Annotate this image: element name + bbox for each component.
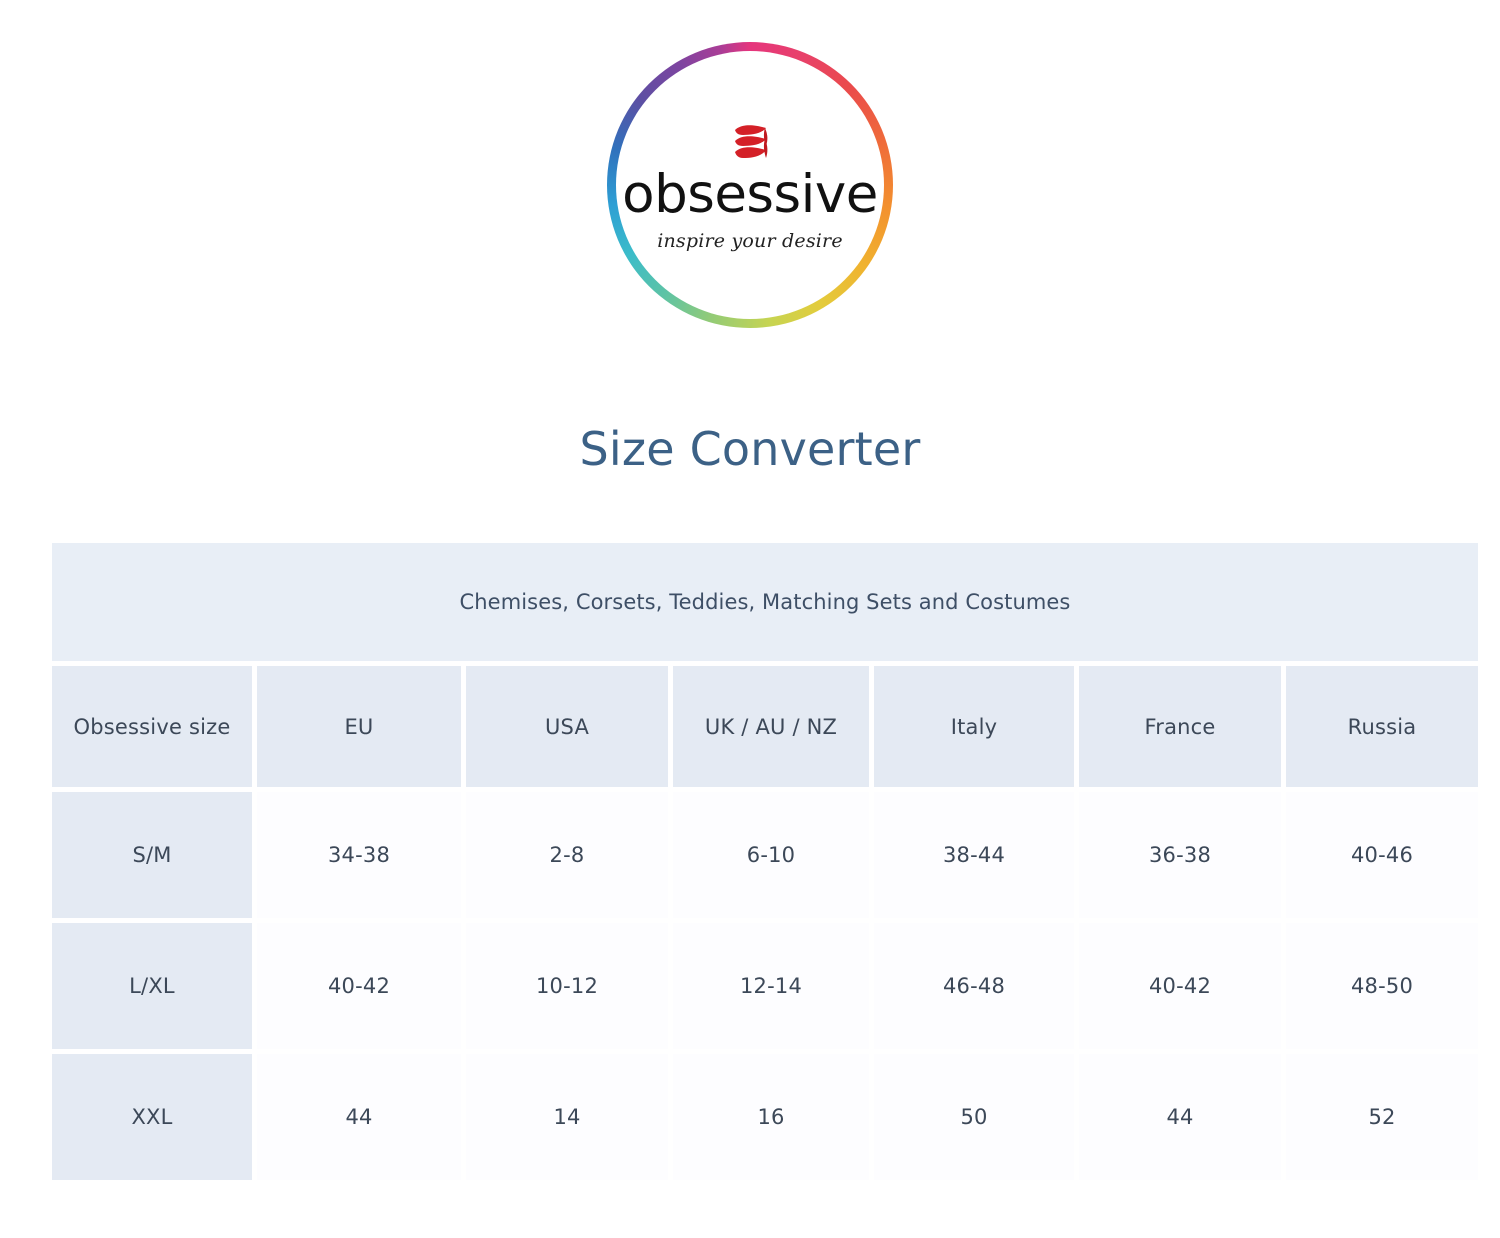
row-header-size: XXL xyxy=(52,1054,252,1180)
logo-tagline: inspire your desire xyxy=(657,230,843,252)
logo-inner: obsessive inspire your desire xyxy=(607,118,893,251)
row-header-size: L/XL xyxy=(52,923,252,1049)
cell-italy: 38-44 xyxy=(874,792,1074,918)
size-converter-table: Chemises, Corsets, Teddies, Matching Set… xyxy=(52,543,1448,1180)
cell-russia: 48-50 xyxy=(1286,923,1478,1049)
table-subtitle: Chemises, Corsets, Teddies, Matching Set… xyxy=(52,543,1478,661)
page-title: Size Converter xyxy=(0,422,1500,476)
cell-france: 44 xyxy=(1079,1054,1281,1180)
row-header-size: S/M xyxy=(52,792,252,918)
obsessive-flame-mark-icon xyxy=(727,124,773,166)
column-header-france: France xyxy=(1079,666,1281,787)
cell-uk-au-nz: 6-10 xyxy=(673,792,869,918)
logo-rainbow-ring-icon: obsessive inspire your desire xyxy=(607,42,893,328)
column-header-obsessive-size: Obsessive size xyxy=(52,666,252,787)
size-grid: Chemises, Corsets, Teddies, Matching Set… xyxy=(52,543,1448,1180)
logo-wordmark: obsessive xyxy=(622,168,878,222)
cell-uk-au-nz: 12-14 xyxy=(673,923,869,1049)
cell-italy: 46-48 xyxy=(874,923,1074,1049)
cell-eu: 34-38 xyxy=(257,792,461,918)
cell-usa: 10-12 xyxy=(466,923,668,1049)
cell-france: 36-38 xyxy=(1079,792,1281,918)
cell-russia: 40-46 xyxy=(1286,792,1478,918)
logo-area: obsessive inspire your desire xyxy=(0,0,1500,328)
cell-eu: 44 xyxy=(257,1054,461,1180)
column-header-uk-au-nz: UK / AU / NZ xyxy=(673,666,869,787)
cell-eu: 40-42 xyxy=(257,923,461,1049)
cell-uk-au-nz: 16 xyxy=(673,1054,869,1180)
cell-usa: 14 xyxy=(466,1054,668,1180)
cell-italy: 50 xyxy=(874,1054,1074,1180)
column-header-russia: Russia xyxy=(1286,666,1478,787)
cell-russia: 52 xyxy=(1286,1054,1478,1180)
cell-france: 40-42 xyxy=(1079,923,1281,1049)
column-header-usa: USA xyxy=(466,666,668,787)
column-header-eu: EU xyxy=(257,666,461,787)
cell-usa: 2-8 xyxy=(466,792,668,918)
column-header-italy: Italy xyxy=(874,666,1074,787)
